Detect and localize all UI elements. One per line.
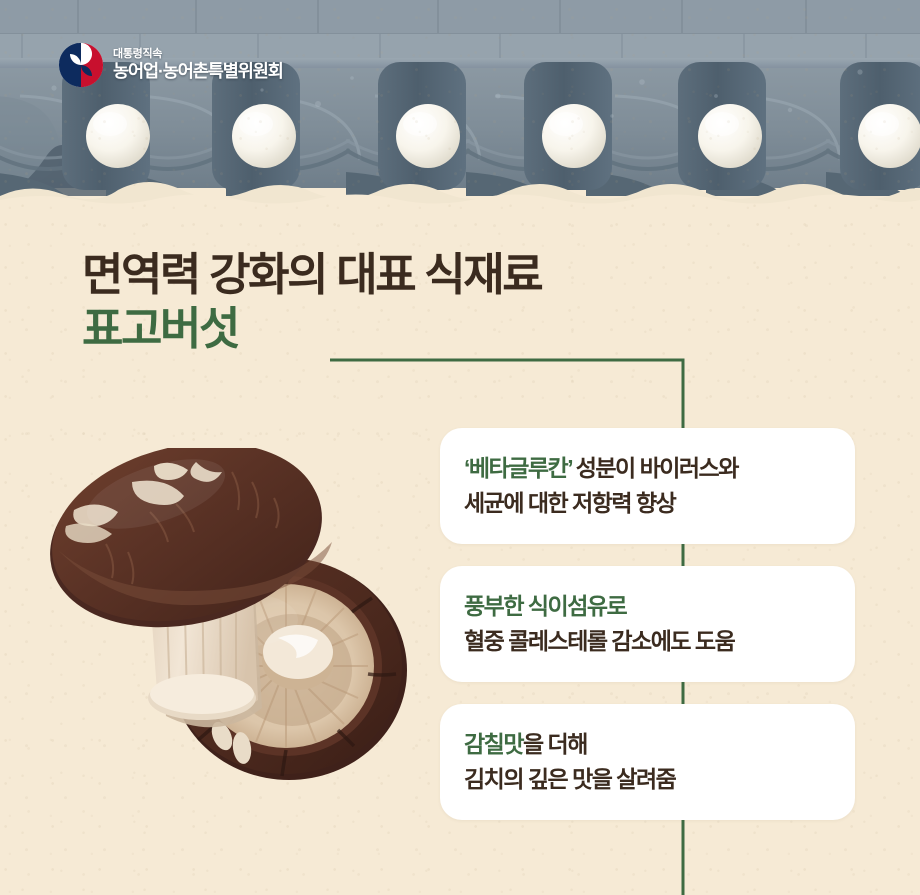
card-highlight: 감칠맛 — [464, 731, 523, 757]
infographic-poster: 대통령직속 농어업·농어촌특별위원회 면역력 강화의 대표 식재료 표고버섯 — [0, 0, 920, 895]
agency-logo: 대통령직속 농어업·농어촌특별위원회 — [58, 42, 283, 88]
title-line-1: 면역력 강화의 대표 식재료 — [82, 250, 541, 300]
card-rest: 세균에 대한 저항력 향상 — [464, 490, 675, 516]
taegeuk-logo-icon — [58, 42, 104, 88]
logo-text: 대통령직속 농어업·농어촌특별위원회 — [113, 48, 283, 81]
card-line-1: 감칠맛을 더해 — [464, 729, 833, 760]
card-rest: 혈중 콜레스테롤 감소에도 도움 — [464, 628, 734, 654]
card-line-1: ‘베타글루칸’ 성분이 바이러스와 — [464, 453, 833, 484]
card-rest: 을 더해 — [523, 731, 587, 757]
card-highlight: 풍부한 식이섬유로 — [464, 593, 626, 619]
card-rest: 성분이 바이러스와 — [571, 455, 737, 481]
logo-sub-label: 대통령직속 — [113, 48, 283, 60]
card-line-2: 김치의 깊은 맛을 살려줌 — [464, 764, 833, 795]
benefit-card-dietary-fiber[interactable]: 풍부한 식이섬유로 혈중 콜레스테롤 감소에도 도움 — [440, 566, 855, 682]
benefit-card-umami-kimchi[interactable]: 감칠맛을 더해 김치의 깊은 맛을 살려줌 — [440, 704, 855, 820]
benefit-cards: ‘베타글루칸’ 성분이 바이러스와 세균에 대한 저항력 향상 풍부한 식이섬유… — [440, 428, 855, 820]
benefit-card-beta-glucan[interactable]: ‘베타글루칸’ 성분이 바이러스와 세균에 대한 저항력 향상 — [440, 428, 855, 544]
logo-main-label: 농어업·농어촌특별위원회 — [113, 62, 283, 81]
title-line-2: 표고버섯 — [82, 304, 541, 354]
card-line-1: 풍부한 식이섬유로 — [464, 591, 833, 622]
page-title: 면역력 강화의 대표 식재료 표고버섯 — [82, 250, 541, 355]
card-line-2: 세균에 대한 저항력 향상 — [464, 488, 833, 519]
card-rest: 김치의 깊은 맛을 살려줌 — [464, 766, 675, 792]
card-line-2: 혈중 콜레스테롤 감소에도 도움 — [464, 626, 833, 657]
card-highlight: ‘베타글루칸’ — [464, 455, 571, 481]
roof-header-illustration — [0, 0, 920, 205]
shiitake-mushroom-illustration — [36, 448, 436, 848]
